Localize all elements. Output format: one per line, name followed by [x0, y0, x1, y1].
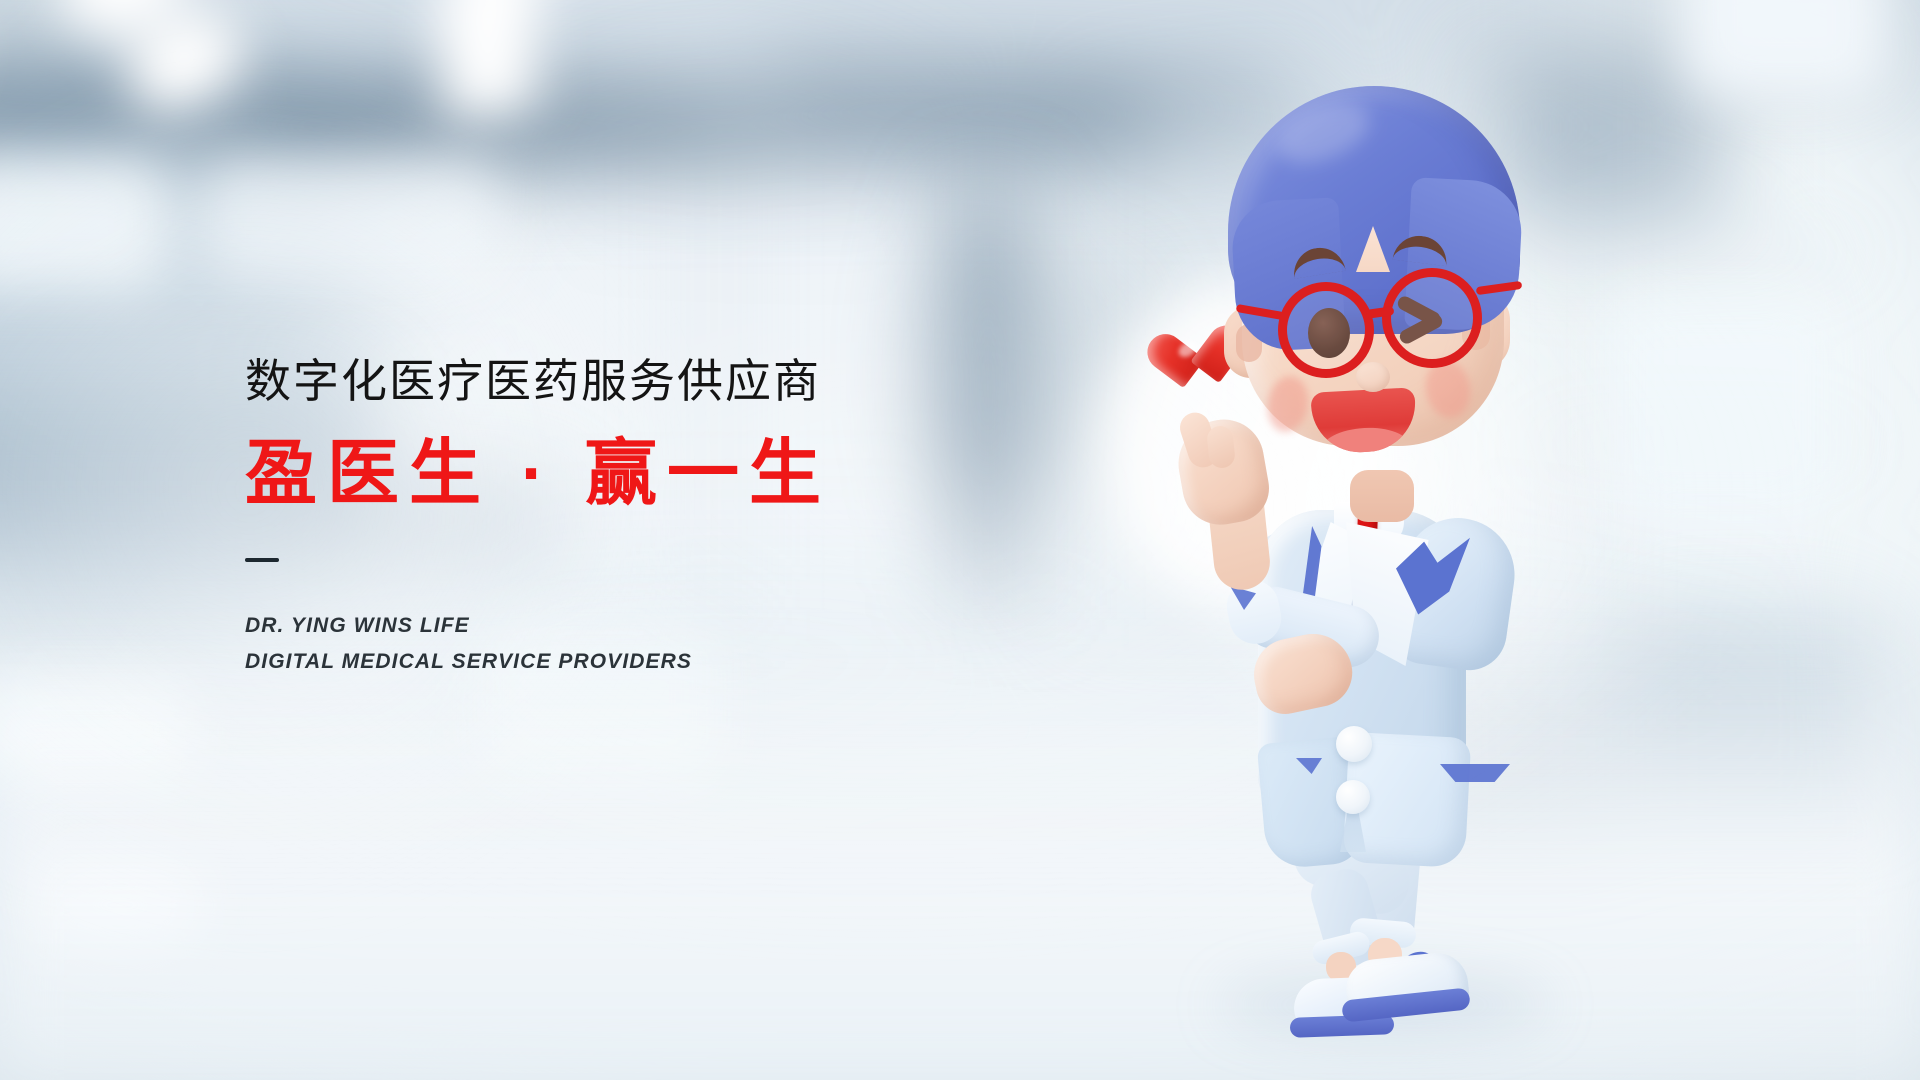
subtitle-line-1: DR. YING WINS LIFE: [245, 608, 831, 644]
subtitle-line-2: DIGITAL MEDICAL SERVICE PROVIDERS: [245, 644, 831, 680]
glasses-lens-left: [1278, 282, 1374, 378]
hero-copy-block: 数字化医疗医药服务供应商 盈医生 · 赢一生 DR. YING WINS LIF…: [245, 358, 831, 680]
coat-button-top: [1336, 726, 1372, 762]
heart-highlight: [1176, 339, 1198, 360]
page-slogan: 盈医生 · 赢一生: [245, 438, 831, 510]
neck: [1350, 470, 1414, 522]
divider-rule: [245, 558, 279, 562]
doctor-mascot-illustration: [1150, 40, 1630, 1050]
hero-banner: 数字化医疗医药服务供应商 盈医生 · 赢一生 DR. YING WINS LIF…: [0, 0, 1920, 1080]
coat-button-bottom: [1336, 780, 1370, 814]
subtitle-block: DR. YING WINS LIFE DIGITAL MEDICAL SERVI…: [245, 608, 831, 680]
glasses-lens-right: [1382, 268, 1482, 368]
page-headline: 数字化医疗医药服务供应商: [245, 358, 831, 404]
tongue: [1320, 426, 1410, 455]
nose: [1356, 362, 1390, 392]
floating-heart-icon: [1160, 328, 1234, 399]
mouth-open-smile: [1310, 387, 1417, 454]
